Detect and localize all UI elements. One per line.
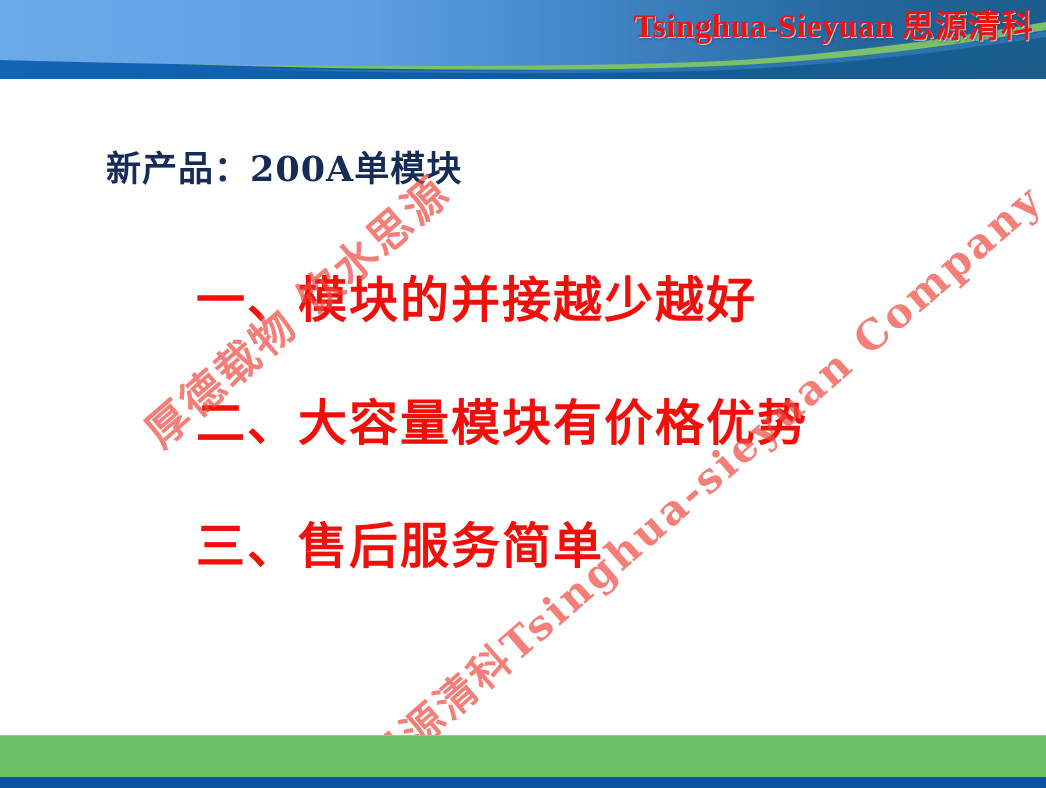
brand-chinese-text: 思源清科: [902, 7, 1034, 45]
slide-header-banner: Tsinghua-Sieyuan 思源清科: [0, 0, 1046, 79]
footer-green-bar: [0, 735, 1046, 778]
brand-latin-text: Tsinghua-Sieyuan: [633, 9, 893, 45]
company-brand-logo: Tsinghua-Sieyuan 思源清科: [633, 4, 1034, 49]
bullet-item-3: 三、售后服务简单: [196, 507, 604, 578]
slide-title: 新产品：200A单模块: [106, 141, 462, 192]
bullet-item-1: 一、模块的并接越少越好: [196, 261, 757, 332]
footer-blue-bar: [0, 777, 1046, 788]
presentation-slide: Tsinghua-Sieyuan 思源清科 新产品：200A单模块 一、模块的并…: [0, 0, 1046, 788]
slide-body: 新产品：200A单模块 一、模块的并接越少越好 二、大容量模块有价格优势 三、售…: [0, 79, 1046, 735]
bullet-item-2: 二、大容量模块有价格优势: [196, 384, 808, 455]
